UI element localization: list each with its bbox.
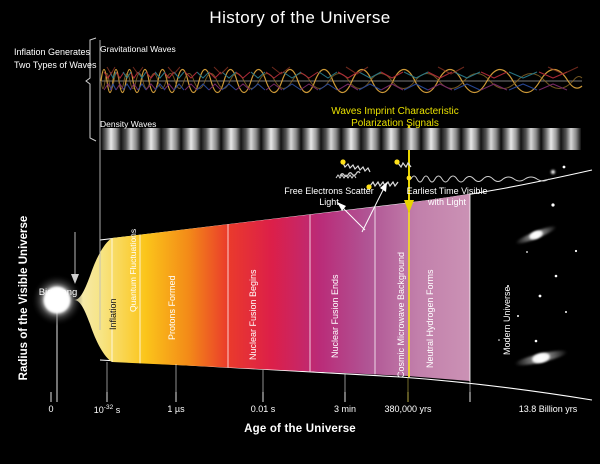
era-label: Nuclear Fusion Ends — [330, 274, 340, 358]
density-waves-label: Density Waves — [100, 119, 156, 129]
x-tick-label: 3 min — [334, 404, 356, 414]
era-label: Nuclear Fusion Begins — [248, 269, 258, 360]
gravitational-waves-graphic — [101, 67, 582, 93]
big-bang-glow — [31, 274, 83, 326]
x-tick-label: 10-32 s — [94, 404, 120, 415]
era-label: Inflation — [108, 298, 118, 330]
quantum-fluctuations-label: Quantum Fluctuations — [128, 216, 138, 312]
era-label: Modern Universe — [502, 286, 512, 355]
figure-canvas: History of the Universe Age of the Unive… — [0, 0, 600, 464]
x-tick-label: 0.01 s — [251, 404, 276, 414]
x-tick-label: 0 — [48, 404, 53, 414]
earliest-time-label: Earliest Time Visible with Light — [398, 186, 496, 208]
x-tick-label: 1 µs — [167, 404, 184, 414]
x-tick-label: 380,000 yrs — [384, 404, 431, 414]
free-electrons-label: Free Electrons Scatter Light — [283, 186, 375, 208]
era-label: Protons Formed — [167, 275, 177, 340]
era-label: Cosmic Microwave Background — [396, 252, 406, 378]
big-bang-label: Big Bang — [38, 287, 78, 298]
page-title: History of the Universe — [0, 8, 600, 28]
x-axis-title: Age of the Universe — [0, 423, 600, 435]
gravitational-waves-label: Gravitational Waves — [100, 44, 176, 54]
x-axis-ticks — [51, 392, 470, 402]
inflation-note: Inflation Generates Two Types of Waves — [14, 46, 98, 71]
density-waves-band — [101, 128, 581, 150]
polarization-signals-label: Waves Imprint Characteristic Polarizatio… — [305, 106, 485, 130]
era-label: Neutral Hydrogen Forms — [425, 269, 435, 368]
y-axis-title: Radius of the Visible Universe — [18, 188, 30, 408]
x-tick-label: 13.8 Billion yrs — [519, 404, 578, 414]
quantum-fluctuation-arrow — [71, 232, 79, 284]
